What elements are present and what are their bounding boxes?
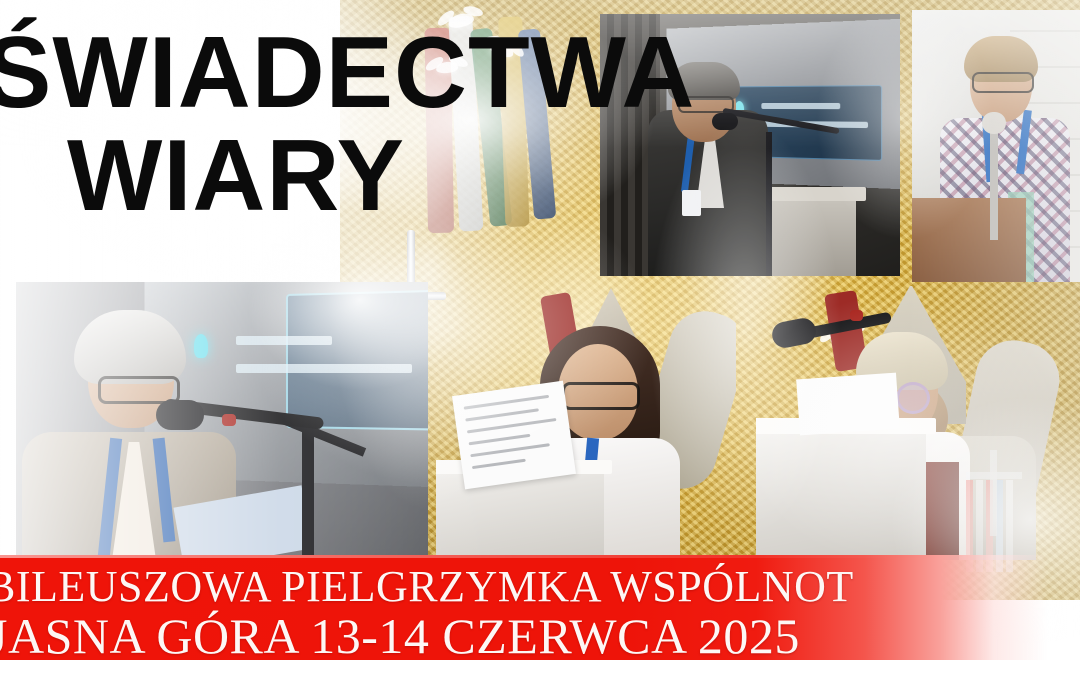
microphone-icon <box>712 113 738 130</box>
event-banner: BILEUSZOWA PIELGRZYMKA WSPÓLNOT JASNA GÓ… <box>0 555 1080 660</box>
title-line-1: ŚWIADECTWA <box>0 26 640 121</box>
photo-dark-haired-woman <box>436 288 736 560</box>
microphone-led <box>850 310 863 321</box>
poster-canvas: ŚWIADECTWA WIARY BILEUSZOWA PIELGRZYMKA … <box>0 0 1080 675</box>
banner-line-2: JASNA GÓRA 13-14 CZERWCA 2025 <box>0 607 800 665</box>
microphone-stand <box>302 430 314 560</box>
photo-elderly-woman <box>16 282 428 560</box>
lectern <box>436 468 604 560</box>
microphone-icon <box>156 400 204 430</box>
glasses-icon <box>896 382 930 414</box>
banner-line-1: BILEUSZOWA PIELGRZYMKA WSPÓLNOT <box>0 561 854 612</box>
paper-sheet <box>796 373 900 436</box>
microphone-led <box>222 414 236 426</box>
microphone-stand <box>990 120 998 240</box>
page-title: ŚWIADECTWA WIARY <box>0 26 640 224</box>
banner-top-highlight <box>0 555 900 558</box>
lectern <box>912 198 1026 282</box>
glasses-icon <box>562 382 640 410</box>
glasses-icon <box>972 72 1034 93</box>
slide-frame <box>286 286 428 432</box>
slide-text-line <box>236 364 412 373</box>
microphone-icon <box>982 112 1006 134</box>
microphone-stand <box>766 132 772 276</box>
cross-icon <box>966 450 1022 536</box>
bulb-icon <box>194 334 208 358</box>
microphone-icon <box>770 316 818 350</box>
badge <box>682 190 701 216</box>
title-line-2: WIARY <box>0 129 640 224</box>
photo-woman-lectern-stone <box>912 10 1080 282</box>
paper-sheet <box>452 381 576 490</box>
lectern <box>756 428 926 560</box>
slide-text-line <box>236 336 332 345</box>
